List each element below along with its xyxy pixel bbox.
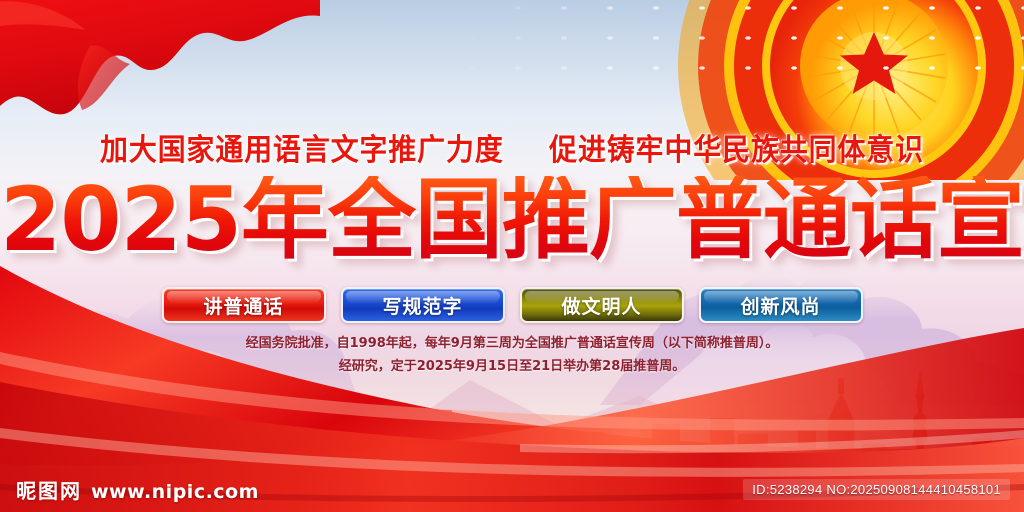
description-line-2: 经研究，定于2025年9月15日至21日举办第28届推普周。 — [0, 355, 1024, 378]
subtitle-left: 加大国家通用语言文字推广力度 — [100, 133, 504, 168]
subtitle-right: 促进铸牢中华民族共同体意识 — [549, 133, 924, 168]
site-watermark: 昵图网 www.nipic.com — [16, 475, 259, 504]
badge-speak-mandarin[interactable]: 讲普通话 — [162, 287, 326, 323]
asset-id-label: ID:5238294 NO:20250908144410458101 — [743, 479, 1010, 500]
badge-be-civilized[interactable]: 做文明人 — [520, 287, 684, 323]
site-name-cn: 昵图网 — [16, 475, 82, 504]
badge-label: 做文明人 — [561, 292, 641, 319]
badge-label: 创新风尚 — [740, 292, 820, 319]
poster-subtitle: 加大国家通用语言文字推广力度 促进铸牢中华民族共同体意识 — [36, 125, 988, 169]
page-title: 2025年全国推广普通话宣传周 — [0, 176, 1024, 264]
badge-label: 写规范字 — [382, 292, 462, 319]
badge-write-standard[interactable]: 写规范字 — [341, 287, 505, 323]
poster-description: 经国务院批准，自1998年起，每年9月第三周为全国推广普通话宣传周（以下简称推普… — [0, 332, 1024, 378]
poster-canvas: 加大国家通用语言文字推广力度 促进铸牢中华民族共同体意识 2025年全国推广普通… — [0, 0, 1024, 512]
badge-innovative-style[interactable]: 创新风尚 — [699, 287, 863, 323]
badge-label: 讲普通话 — [203, 292, 283, 319]
poster-content: 加大国家通用语言文字推广力度 促进铸牢中华民族共同体意识 2025年全国推广普通… — [0, 0, 1024, 512]
slogan-badge-group: 讲普通话 写规范字 做文明人 创新风尚 — [0, 287, 1024, 323]
description-line-1: 经国务院批准，自1998年起，每年9月第三周为全国推广普通话宣传周（以下简称推普… — [0, 332, 1024, 355]
watermark-bar: 昵图网 www.nipic.com ID:5238294 NO:20250908… — [0, 468, 1024, 512]
site-url: www.nipic.com — [91, 481, 259, 503]
